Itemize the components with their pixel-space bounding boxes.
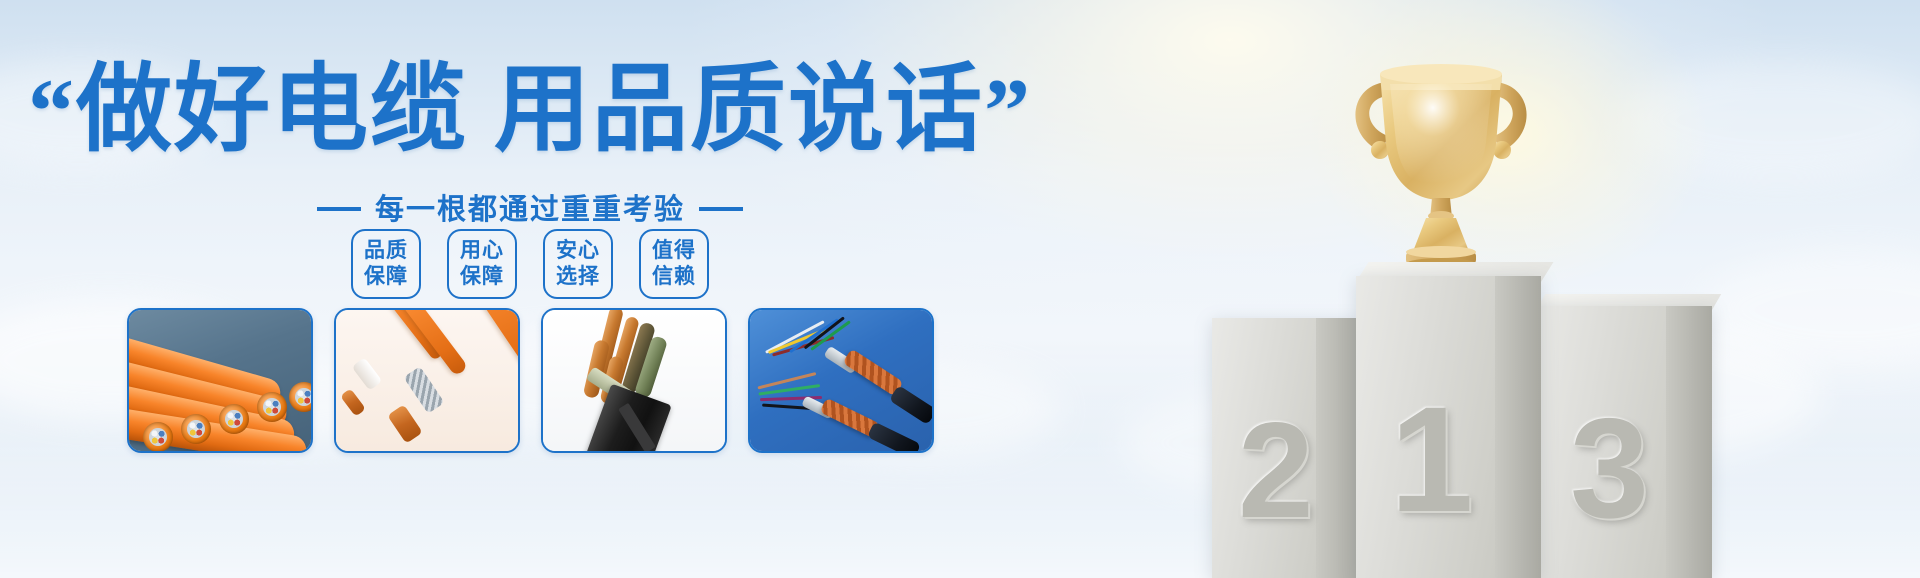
subtitle-text: 每一根都通过重重考验 (375, 194, 685, 226)
badge-line-1: 品质 (364, 238, 408, 264)
podium-block-first: 1 (1356, 276, 1541, 578)
badge-dedication-guarantee[interactable]: 用心 保障 (447, 229, 517, 299)
product-card-list (0, 308, 1060, 453)
podium-rank-number: 3 (1570, 398, 1649, 540)
badge-line-1: 用心 (460, 238, 504, 264)
black-armored-cable-photo (543, 310, 725, 451)
badge-line-2: 选择 (556, 264, 600, 290)
product-card-orange-cable-stripped[interactable] (334, 308, 520, 453)
product-card-shielded-multicore[interactable] (748, 308, 934, 453)
close-quote: ” (984, 60, 1032, 162)
badge-worry-free-choice[interactable]: 安心 选择 (543, 229, 613, 299)
orange-cable-bundle-photo (129, 310, 311, 451)
badge-line-1: 值得 (652, 238, 696, 264)
gold-trophy-icon (1328, 40, 1558, 280)
dash-left-icon (317, 207, 361, 211)
product-card-black-armored-cable[interactable] (541, 308, 727, 453)
podium-block-third-top (1536, 294, 1721, 310)
dash-right-icon (699, 207, 743, 211)
subtitle: 每一根都通过重重考验 (0, 186, 1060, 228)
product-card-orange-cable-bundle[interactable] (127, 308, 313, 453)
podium-block-second: 2 (1212, 318, 1362, 578)
promo-banner: “做好电缆用品质说话” 每一根都通过重重考验 品质 保障 用心 保障 安心 选择… (0, 0, 1920, 578)
podium-rank-number: 1 (1390, 384, 1473, 534)
badge-line-2: 保障 (364, 264, 408, 290)
podium-rank-number: 2 (1238, 402, 1314, 538)
podium-block-third: 3 (1536, 306, 1712, 578)
sun-glare (1300, 0, 1720, 300)
podium-block-first-top (1356, 262, 1553, 282)
headline-part-2: 用品质说话 (494, 56, 984, 163)
badge-line-2: 信赖 (652, 264, 696, 290)
orange-cable-stripped-photo (336, 310, 518, 451)
open-quote: “ (28, 60, 76, 162)
badge-trustworthy[interactable]: 值得 信赖 (639, 229, 709, 299)
page-title: “做好电缆用品质说话” (0, 62, 1060, 158)
headline-content: “做好电缆用品质说话” 每一根都通过重重考验 品质 保障 用心 保障 安心 选择… (0, 0, 1060, 578)
podium-stage: 3 2 1 (1160, 0, 1920, 578)
feature-badge-list: 品质 保障 用心 保障 安心 选择 值得 信赖 (0, 229, 1060, 299)
badge-line-1: 安心 (556, 238, 600, 264)
headline-part-1: 做好电缆 (76, 56, 468, 163)
badge-line-2: 保障 (460, 264, 504, 290)
shielded-multicore-cable-photo (750, 310, 932, 451)
badge-quality-guarantee[interactable]: 品质 保障 (351, 229, 421, 299)
